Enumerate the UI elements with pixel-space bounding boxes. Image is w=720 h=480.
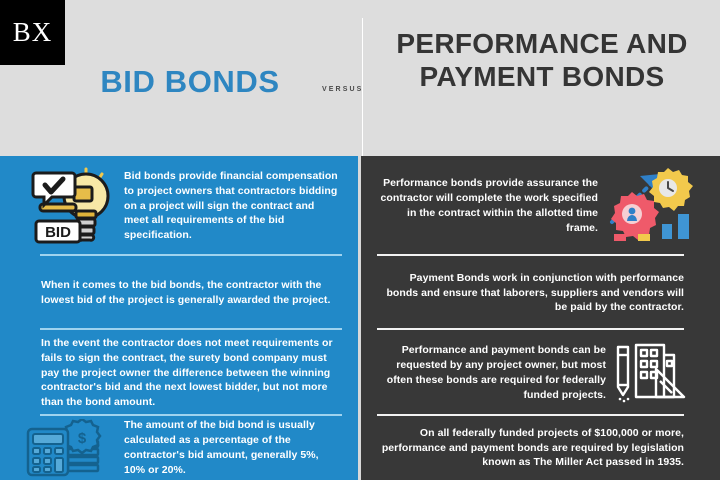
gears-chart-growth-icon [598,166,702,246]
list-item: On all federally funded projects of $100… [361,416,720,480]
brand-logo: BX [0,0,65,65]
list-item: Payment Bonds work in conjunction with p… [361,256,720,330]
left-column-title: BID BONDS [60,66,320,97]
list-item: Performance bonds provide assurance the … [361,156,720,256]
list-item-text: Bid bonds provide financial compensation… [124,169,342,244]
list-item: When it comes to the bid bonds, the cont… [0,256,358,330]
performance-payment-bonds-panel: Performance bonds provide assurance the … [361,156,720,480]
list-item-text: Performance and payment bonds can be req… [377,343,606,403]
header-band: BX BID BONDS VERSUS PERFORMANCE AND PAYM… [0,0,720,156]
brand-logo-text: BX [13,17,53,48]
infographic-root: BX BID BONDS VERSUS PERFORMANCE AND PAYM… [0,0,720,480]
building-pencil-ruler-icon [606,341,702,405]
svg-text:BID: BID [45,224,71,241]
list-item-text: When it comes to the bid bonds, the cont… [41,278,342,308]
versus-label: VERSUS [322,86,358,93]
list-item: $ [0,416,358,480]
list-item: In the event the contractor does not mee… [0,330,358,416]
list-item-text: The amount of the bid bond is usually ca… [124,418,342,478]
right-column-title: PERFORMANCE AND PAYMENT BONDS [372,27,712,93]
list-item-text: On all federally funded projects of $100… [377,426,684,471]
svg-text:$: $ [78,430,87,447]
calculator-money-icon: $ [20,419,124,477]
list-item-text: Performance bonds provide assurance the … [377,176,598,236]
list-item: Performance and payment bonds can be req… [361,330,720,416]
list-item: BID Bid bonds provide financial compensa… [0,156,358,256]
header-vertical-divider [362,18,363,156]
list-item-text: Payment Bonds work in conjunction with p… [377,271,684,316]
bid-gavel-lightbulb-icon: BID [20,167,124,245]
bid-bonds-panel: BID Bid bonds provide financial compensa… [0,156,358,480]
list-item-text: In the event the contractor does not mee… [41,336,342,411]
